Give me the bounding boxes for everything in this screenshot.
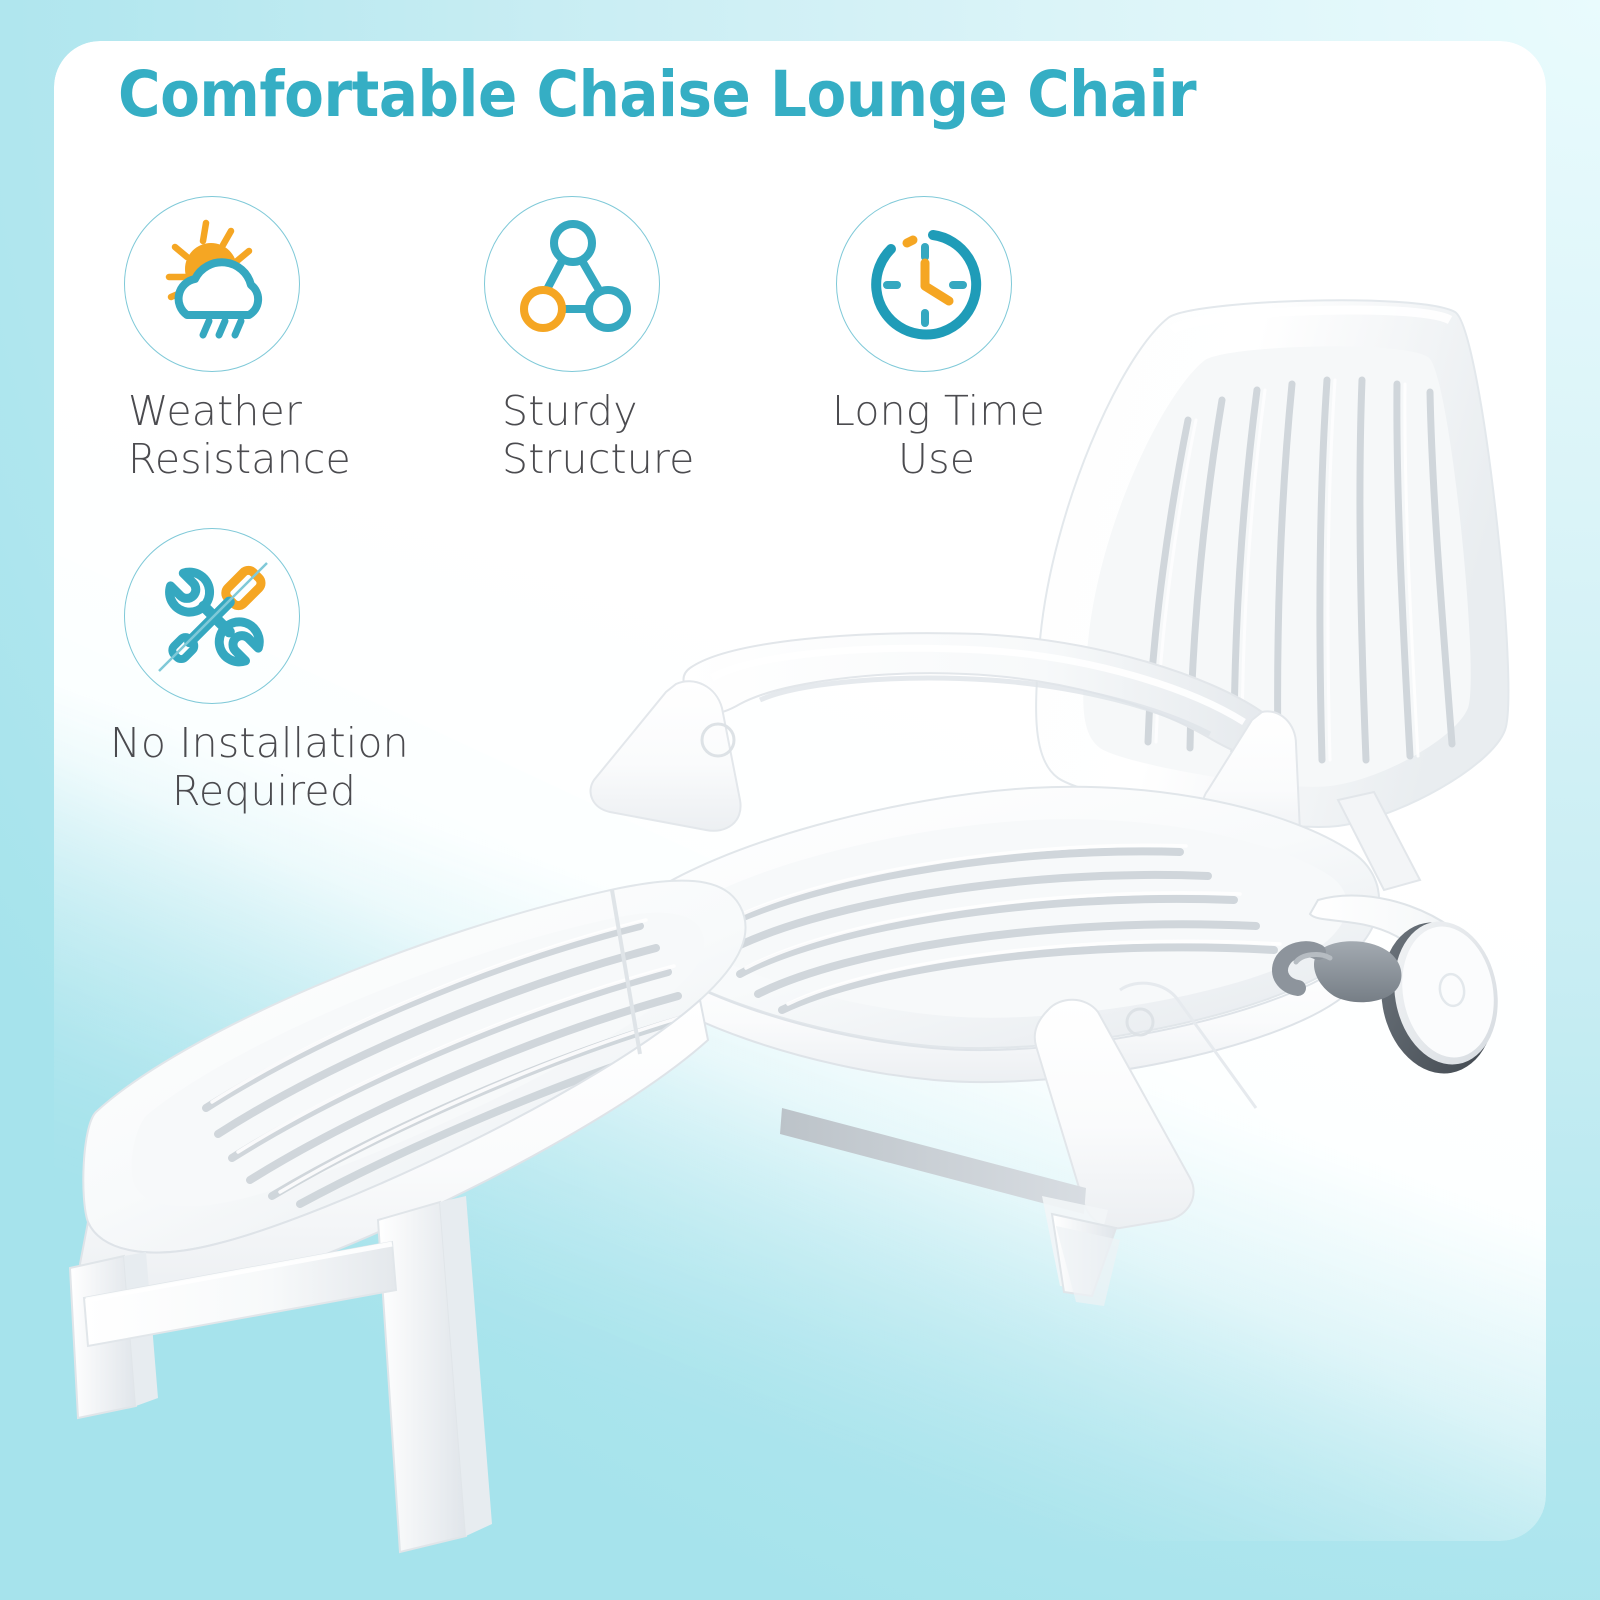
feature-label-line2: Structure	[502, 436, 832, 484]
feature-label-line2: Required	[110, 768, 440, 816]
feature-label: No Installation Required	[110, 720, 440, 815]
feature-no-installation-required: No Installation Required	[110, 528, 440, 815]
feature-label-line1: Long Time	[832, 388, 1162, 436]
feature-long-time-use: Long Time Use	[822, 196, 1152, 483]
feature-icon-badge	[836, 196, 1012, 372]
feature-label: Weather Resistance	[110, 388, 458, 483]
feature-weather-resistance: Weather Resistance	[110, 196, 440, 483]
page-title: Comfortable Chaise Lounge Chair	[118, 58, 1314, 131]
feature-icon-badge	[124, 528, 300, 704]
feature-label-line1: No Installation	[110, 720, 440, 768]
product-feature-banner: Comfortable Chaise Lounge Chair	[0, 0, 1600, 1600]
triangle-nodes-icon	[485, 197, 661, 373]
no-tools-icon	[125, 529, 301, 705]
feature-label-line2: Use	[832, 436, 1162, 484]
feature-icon-badge	[124, 196, 300, 372]
weather-sun-cloud-rain-icon	[125, 197, 301, 373]
cross-brace	[780, 1108, 1086, 1214]
feature-label-line1: Weather	[128, 388, 458, 436]
feature-label-line2: Resistance	[128, 436, 458, 484]
feature-label-line1: Sturdy	[502, 388, 832, 436]
feature-sturdy-structure: Sturdy Structure	[470, 196, 800, 483]
feature-label: Long Time Use	[822, 388, 1162, 483]
feature-icon-badge	[484, 196, 660, 372]
clock-icon	[837, 197, 1013, 373]
feature-label: Sturdy Structure	[470, 388, 832, 483]
